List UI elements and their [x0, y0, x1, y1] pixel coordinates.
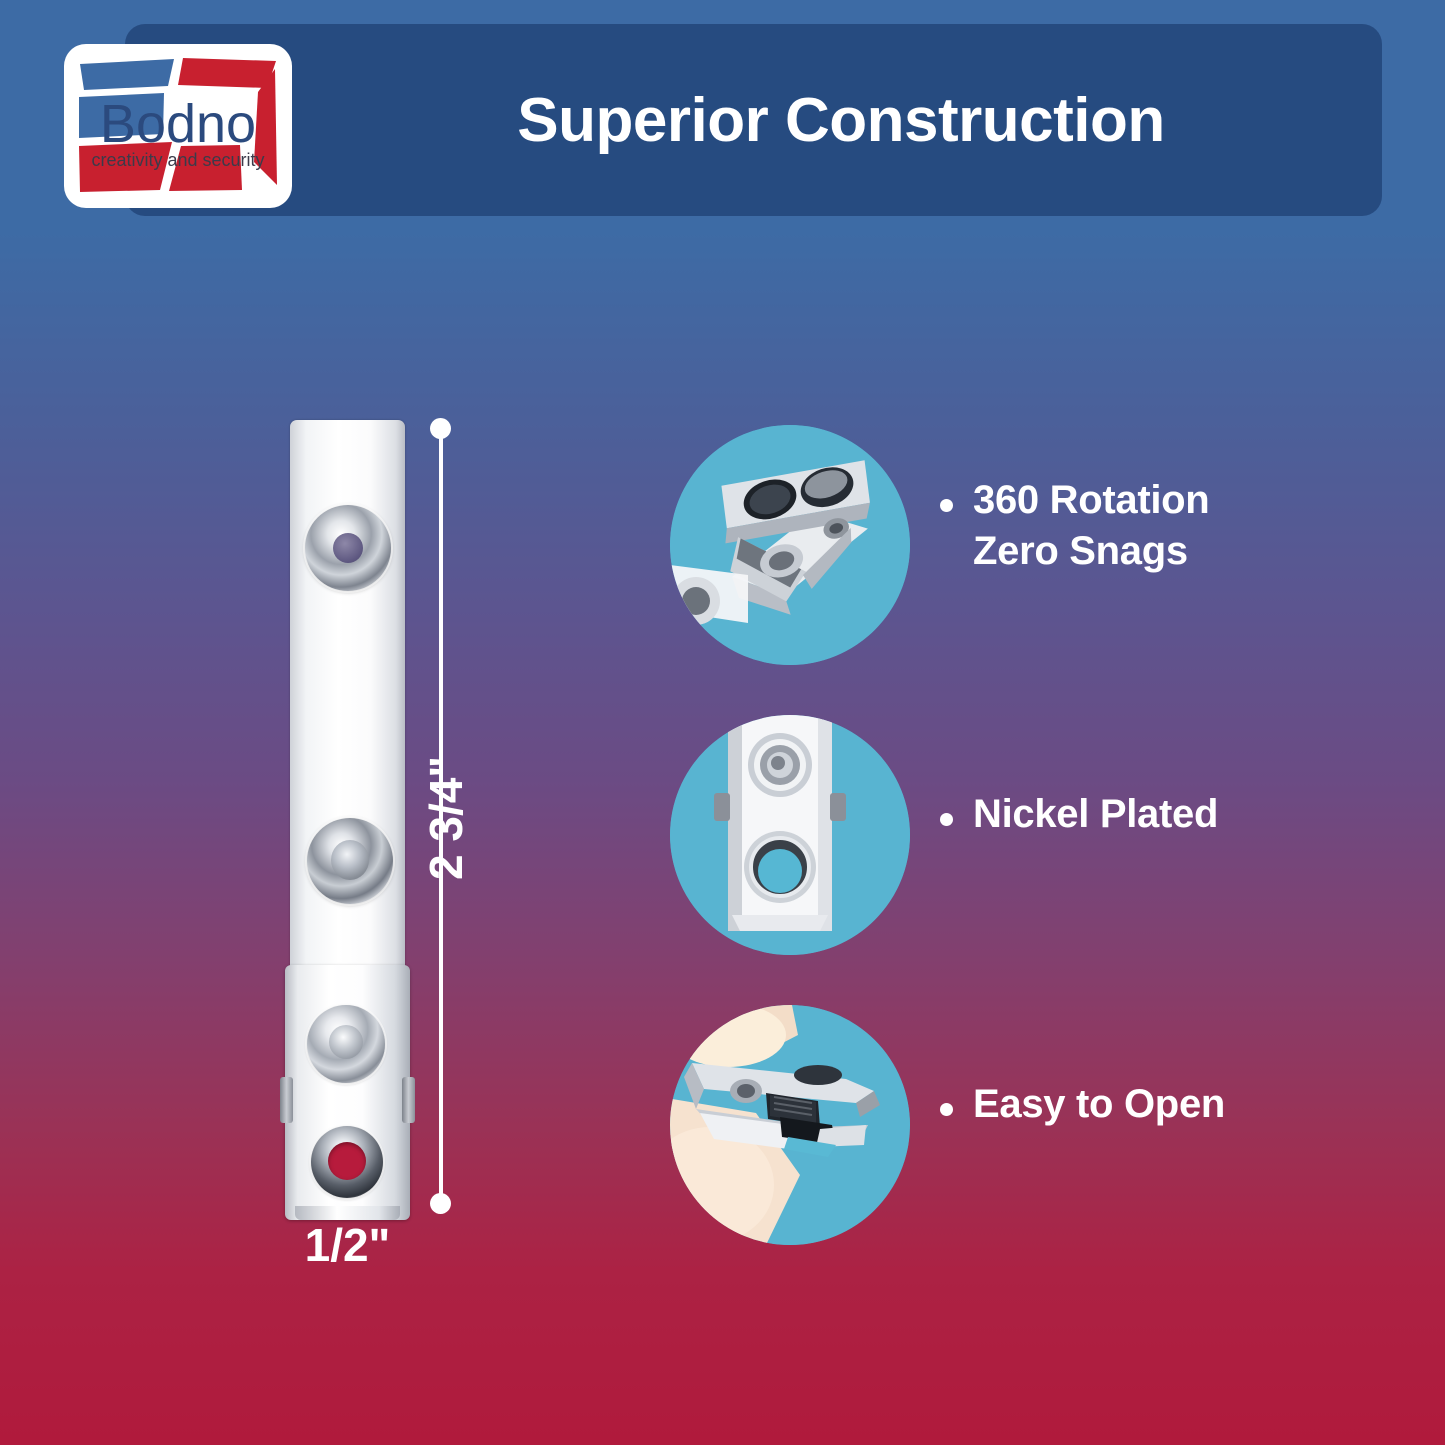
feature-label: Nickel Plated — [973, 789, 1218, 840]
feature-text-block: Nickel Plated — [940, 789, 1360, 840]
feature-label-line1: Easy to Open — [973, 1079, 1225, 1130]
clip-rotation-illustration — [670, 425, 910, 665]
page-title: Superior Construction — [300, 24, 1382, 216]
feature-label: Easy to Open — [973, 1079, 1225, 1130]
clip-easy-open-illustration — [670, 1005, 910, 1245]
bodno-logo-icon: Bodno creativity and security — [62, 42, 294, 210]
feature-text-block: 360 Rotation Zero Snags — [940, 475, 1360, 577]
bullet-icon — [940, 813, 953, 826]
infographic-page: Bodno creativity and security Superior C… — [0, 0, 1445, 1445]
clip-easy-open-photo — [670, 1005, 910, 1245]
product-illustration — [285, 420, 410, 1220]
bullet-icon — [940, 1103, 953, 1116]
width-dimension-label: 1/2" — [285, 1218, 410, 1272]
height-dimension-cap-top — [430, 418, 451, 439]
clip-notch-left — [280, 1077, 293, 1123]
clip-eyelet-hole — [311, 1126, 383, 1198]
strap-snap-middle — [307, 818, 393, 904]
feature-item: Nickel Plated — [660, 715, 1360, 1005]
feature-text-block: Easy to Open — [940, 1079, 1360, 1130]
height-dimension-label: 2 3/4" — [419, 630, 473, 880]
height-dimension-cap-bottom — [430, 1193, 451, 1214]
bullet-icon — [940, 499, 953, 512]
feature-item: Easy to Open — [660, 1005, 1360, 1295]
feature-label: 360 Rotation Zero Snags — [973, 475, 1209, 577]
clip-snap-dome — [307, 1005, 385, 1083]
logo-tagline: creativity and security — [91, 150, 264, 170]
clip-nickel-plated-photo — [670, 715, 910, 955]
feature-list: 360 Rotation Zero Snags — [660, 425, 1360, 1295]
clip-nickel-illustration — [670, 715, 910, 955]
clip-notch-right — [402, 1077, 415, 1123]
clip-rotation-photo — [670, 425, 910, 665]
strap-snap-top — [305, 505, 391, 591]
logo-wordmark: Bodno — [100, 94, 256, 154]
bodno-logo: Bodno creativity and security — [62, 42, 294, 210]
feature-label-line1: Nickel Plated — [973, 789, 1218, 840]
feature-label-line1: 360 Rotation — [973, 475, 1209, 526]
feature-label-line2: Zero Snags — [973, 526, 1209, 577]
feature-item: 360 Rotation Zero Snags — [660, 425, 1360, 715]
